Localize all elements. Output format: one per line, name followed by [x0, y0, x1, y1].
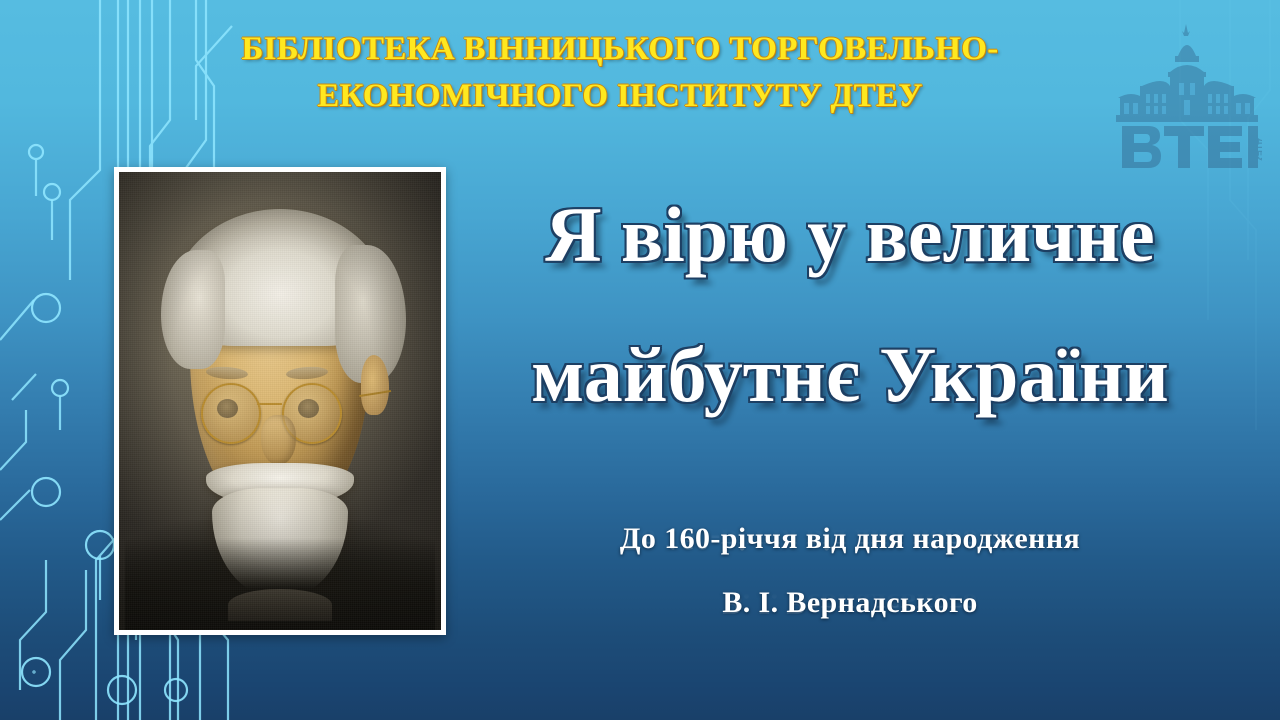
poster-slide: БІБЛІОТЕКА ВІННИЦЬКОГО ТОРГОВЕЛЬНО- ЕКОН…	[0, 0, 1280, 720]
subtitle-line-2-text: В. І. Вернадського	[722, 586, 977, 619]
institute-logo: ДТЕУ	[1112, 22, 1262, 174]
logo-sub-text: ДТЕУ	[1256, 138, 1262, 162]
subtitle: До 160-річчя від дня народження До 160-р…	[470, 524, 1230, 618]
subtitle-line-1-text: До 160-річчя від дня народження	[620, 522, 1080, 555]
headline-line-1: Я вірю у величне	[470, 196, 1230, 274]
headline: Я вірю у величне майбутнє України	[470, 196, 1230, 414]
portrait-vernadsky	[119, 172, 441, 630]
portrait-frame	[114, 167, 446, 635]
page-title: БІБЛІОТЕКА ВІННИЦЬКОГО ТОРГОВЕЛЬНО- ЕКОН…	[170, 26, 1070, 120]
subtitle-line-1: До 160-річчя від дня народження До 160-р…	[470, 524, 1230, 554]
portrait-grain	[119, 172, 441, 630]
headline-line-2: майбутнє України	[470, 336, 1230, 414]
subtitle-line-2: В. І. Вернадського В. І. Вернадського	[470, 588, 1230, 618]
